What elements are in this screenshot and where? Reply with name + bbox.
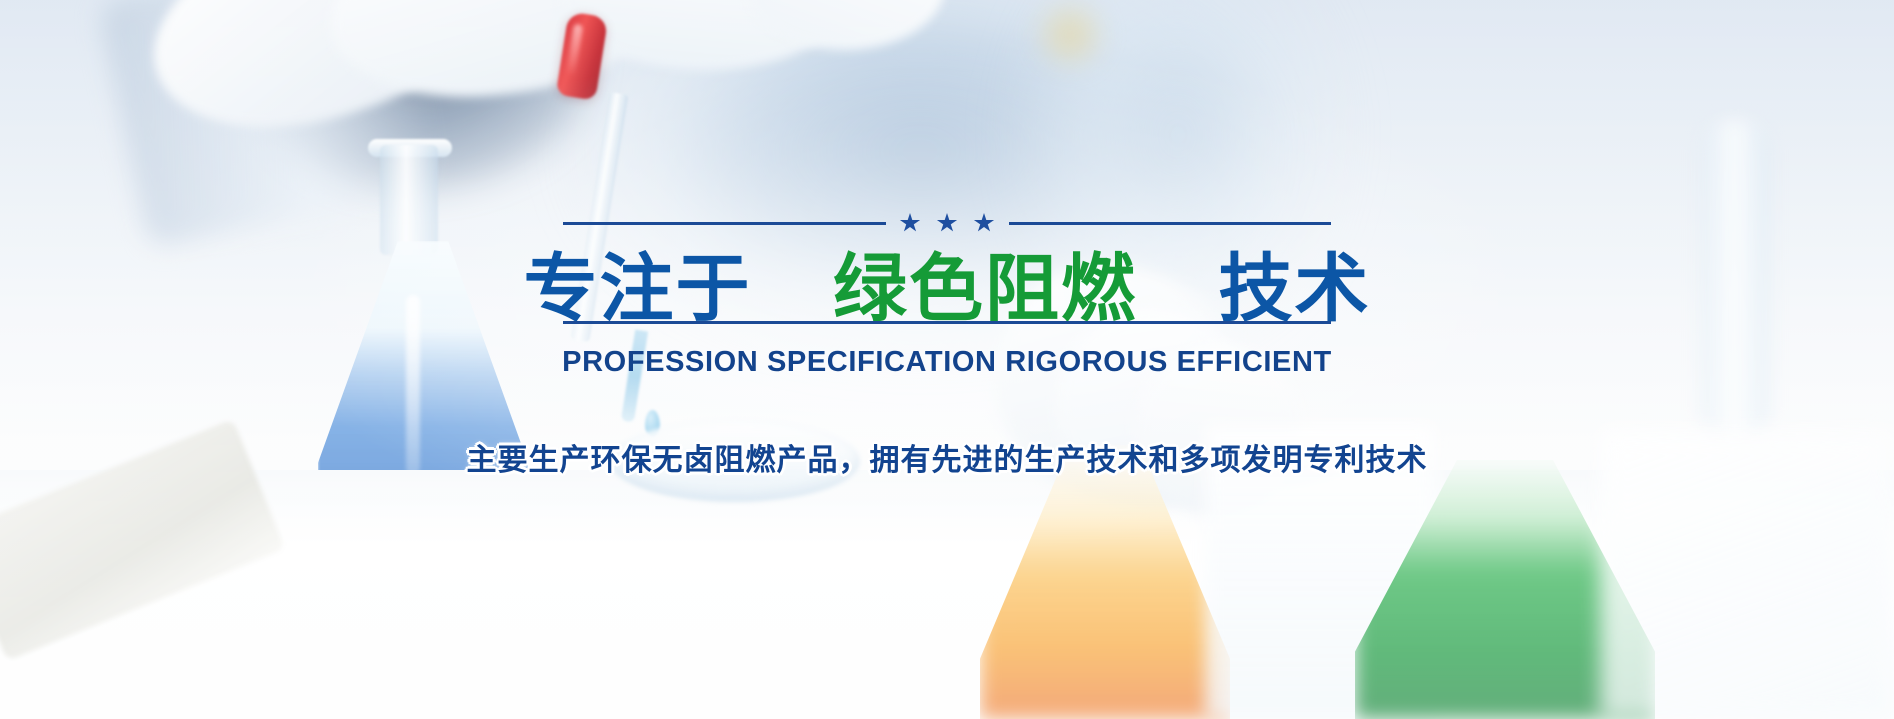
headline-part-1: 专注于 — [523, 246, 751, 332]
rule-below-headline — [563, 321, 1331, 324]
tagline-chinese: 主要生产环保无卤阻燃产品，拥有先进的生产技术和多项发明专利技术 — [467, 435, 1428, 479]
headline-part-3: 技术 — [1219, 246, 1371, 332]
banner-content: 专注于 绿色阻燃 技术 PROFESSION SPECIFICATION RIG… — [0, 0, 1894, 719]
hero-banner: 专注于 绿色阻燃 技术 PROFESSION SPECIFICATION RIG… — [0, 0, 1894, 719]
headline-part-2: 绿色阻燃 — [833, 246, 1137, 332]
page-title: 专注于 绿色阻燃 技术 — [523, 200, 1370, 331]
subtitle-english: PROFESSION SPECIFICATION RIGOROUS EFFICI… — [562, 346, 1332, 379]
